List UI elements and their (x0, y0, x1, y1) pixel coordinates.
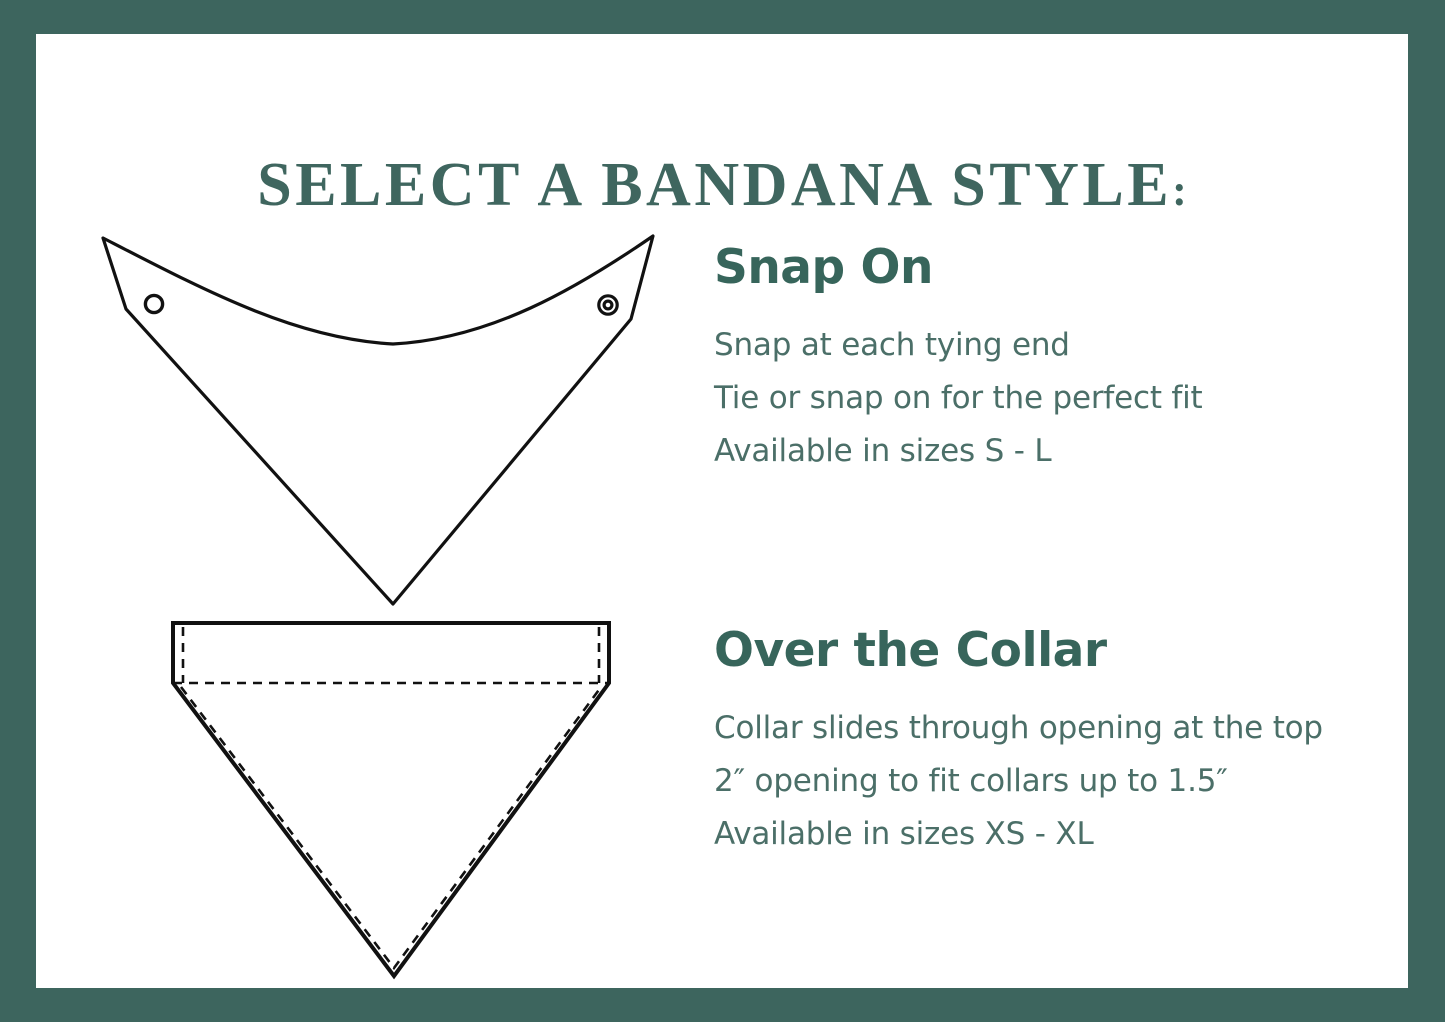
option-snap-on: Snap On Snap at each tying end Tie or sn… (714, 239, 1414, 478)
poster-root: SELECT A BANDANA STYLE: (0, 0, 1445, 1022)
page-title-colon: : (1172, 166, 1187, 215)
option-over-the-collar-details: Collar slides through opening at the top… (714, 702, 1414, 861)
detail-line: 2″ opening to fit collars up to 1.5″ (714, 755, 1414, 808)
option-over-the-collar: Over the Collar Collar slides through op… (714, 622, 1414, 861)
option-over-the-collar-heading: Over the Collar (714, 622, 1414, 680)
collar-outline (173, 623, 609, 976)
white-card: SELECT A BANDANA STYLE: (36, 34, 1408, 988)
detail-line: Tie or snap on for the perfect fit (714, 372, 1414, 425)
over-the-collar-bandana-diagram (116, 604, 686, 994)
snap-on-outline (103, 236, 653, 604)
detail-line: Available in sizes S - L (714, 425, 1414, 478)
option-snap-on-details: Snap at each tying end Tie or snap on fo… (714, 319, 1414, 478)
snap-on-bandana-svg (46, 189, 686, 619)
over-the-collar-bandana-svg (116, 604, 686, 994)
detail-line: Collar slides through opening at the top (714, 702, 1414, 755)
detail-line: Snap at each tying end (714, 319, 1414, 372)
snap-on-bandana-diagram (46, 189, 686, 619)
detail-line: Available in sizes XS - XL (714, 808, 1414, 861)
option-snap-on-heading: Snap On (714, 239, 1414, 297)
